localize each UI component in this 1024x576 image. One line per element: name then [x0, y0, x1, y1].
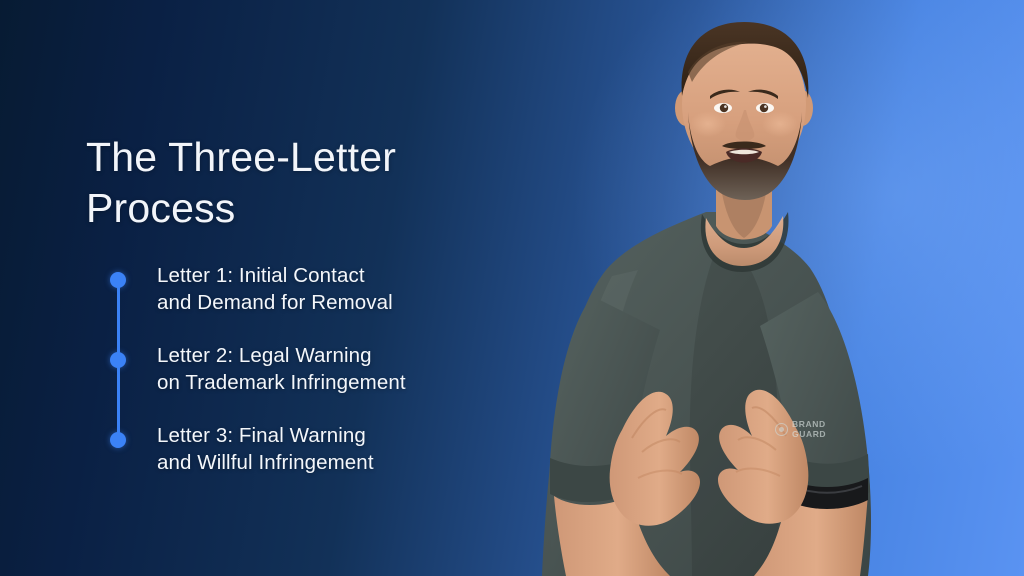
target-circle-icon — [775, 423, 788, 436]
presenter-figure: BRAND GUARD — [520, 0, 1024, 576]
three-letter-timeline: Letter 1: Initial Contact and Demand for… — [110, 262, 530, 502]
timeline-item-label: Letter 3: Final Warning and Willful Infr… — [157, 422, 530, 476]
timeline-dot-icon — [110, 272, 126, 288]
shirt-logo-wordmark: BRAND GUARD — [792, 420, 826, 439]
slide-canvas: BRAND GUARD The Three-Letter Process Let… — [0, 0, 1024, 576]
title-block: The Three-Letter Process — [86, 132, 556, 234]
timeline-dot-icon — [110, 432, 126, 448]
timeline-item-label: Letter 2: Legal Warning on Trademark Inf… — [157, 342, 530, 396]
list-item: Letter 1: Initial Contact and Demand for… — [110, 262, 530, 342]
list-item: Letter 2: Legal Warning on Trademark Inf… — [110, 342, 530, 422]
page-title: The Three-Letter Process — [86, 132, 556, 234]
timeline-item-label: Letter 1: Initial Contact and Demand for… — [157, 262, 530, 316]
timeline-dot-icon — [110, 352, 126, 368]
list-item: Letter 3: Final Warning and Willful Infr… — [110, 422, 530, 502]
shirt-logo: BRAND GUARD — [775, 420, 826, 439]
